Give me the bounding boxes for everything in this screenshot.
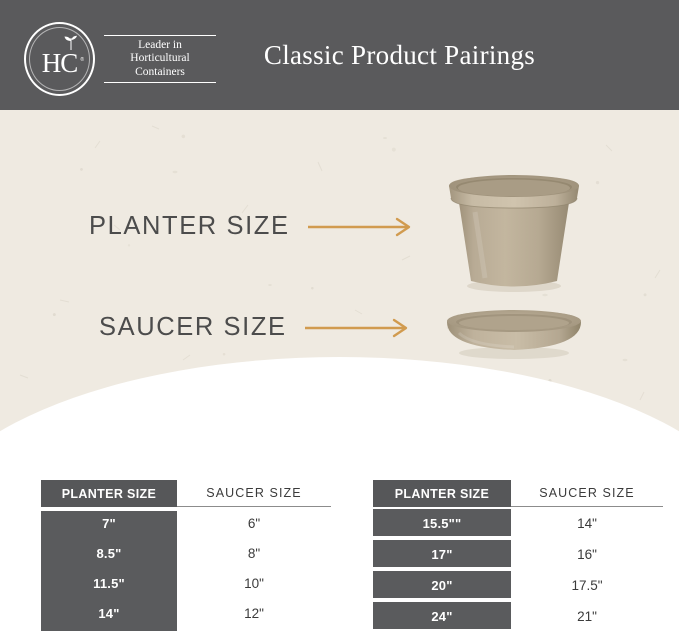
column-header-planter: PLANTER SIZE: [41, 480, 177, 507]
table-row: 15.5"" 14": [373, 508, 663, 538]
page-header: HC ® Leader in Horticultural Containers …: [0, 0, 679, 110]
cell-saucer-size: 6": [177, 516, 331, 531]
table-row: 20" 17.5": [373, 570, 663, 600]
column-header-saucer: SAUCER SIZE: [177, 480, 331, 507]
cell-planter-size: 17": [373, 547, 511, 562]
table-row: 17" 16": [373, 539, 663, 569]
table-header-row: PLANTER SIZE SAUCER SIZE: [41, 480, 331, 508]
column-header-saucer-label: SAUCER SIZE: [539, 486, 634, 500]
table-row: 11.5" 10": [41, 568, 331, 598]
arrow-right-icon: [305, 318, 413, 338]
cell-planter-size: 24": [373, 609, 511, 624]
table-row: 7" 6": [41, 508, 331, 538]
table-row: 8.5" 8": [41, 538, 331, 568]
cell-planter-size: 7": [41, 516, 177, 531]
cell-saucer-size: 21": [511, 609, 663, 624]
callout-planter-label: PLANTER SIZE: [89, 212, 290, 241]
cell-planter-size: 15.5"": [373, 516, 511, 531]
callout-saucer-size: SAUCER SIZE: [99, 313, 413, 342]
column-header-saucer: SAUCER SIZE: [511, 480, 663, 507]
column-header-planter: PLANTER SIZE: [373, 480, 511, 507]
cell-saucer-size: 10": [177, 576, 331, 591]
cell-planter-size: 11.5": [41, 576, 177, 591]
cell-saucer-size: 12": [177, 606, 331, 621]
large-sizes-table: PLANTER SIZE SAUCER SIZE 15.5"" 14" 17" …: [373, 480, 663, 632]
table-body: 7" 6" 8.5" 8" 11.5" 10" 14" 12": [41, 508, 331, 628]
cell-planter-size: 8.5": [41, 546, 177, 561]
table-header-row: PLANTER SIZE SAUCER SIZE: [373, 480, 663, 508]
cell-saucer-size: 16": [511, 547, 663, 562]
arrow-right-icon: [308, 217, 416, 237]
small-sizes-table: PLANTER SIZE SAUCER SIZE 7" 6" 8.5" 8" 1…: [41, 480, 331, 628]
table-row: 14" 12": [41, 598, 331, 628]
table-row: 24" 21": [373, 601, 663, 631]
cell-saucer-size: 17.5": [511, 578, 663, 593]
cell-planter-size: 20": [373, 578, 511, 593]
size-chart-section: PLANTER SIZE SAUCER SIZE 7" 6" 8.5" 8" 1…: [0, 440, 679, 636]
page-title: Classic Product Pairings: [0, 0, 679, 110]
hero-section: PLANTER SIZE SAUCER SIZE: [0, 110, 679, 440]
column-header-saucer-label: SAUCER SIZE: [206, 486, 301, 500]
table-body: 15.5"" 14" 17" 16" 20" 17.5" 24" 21": [373, 508, 663, 631]
callout-planter-size: PLANTER SIZE: [89, 212, 416, 241]
cell-saucer-size: 8": [177, 546, 331, 561]
saucer-dish-image: [441, 303, 588, 361]
column-header-planter-label: PLANTER SIZE: [395, 487, 489, 501]
cell-planter-size: 14": [41, 606, 177, 621]
cell-saucer-size: 14": [511, 516, 663, 531]
callout-saucer-label: SAUCER SIZE: [99, 313, 287, 342]
column-header-planter-label: PLANTER SIZE: [62, 487, 156, 501]
planter-pot-image: [437, 168, 592, 293]
